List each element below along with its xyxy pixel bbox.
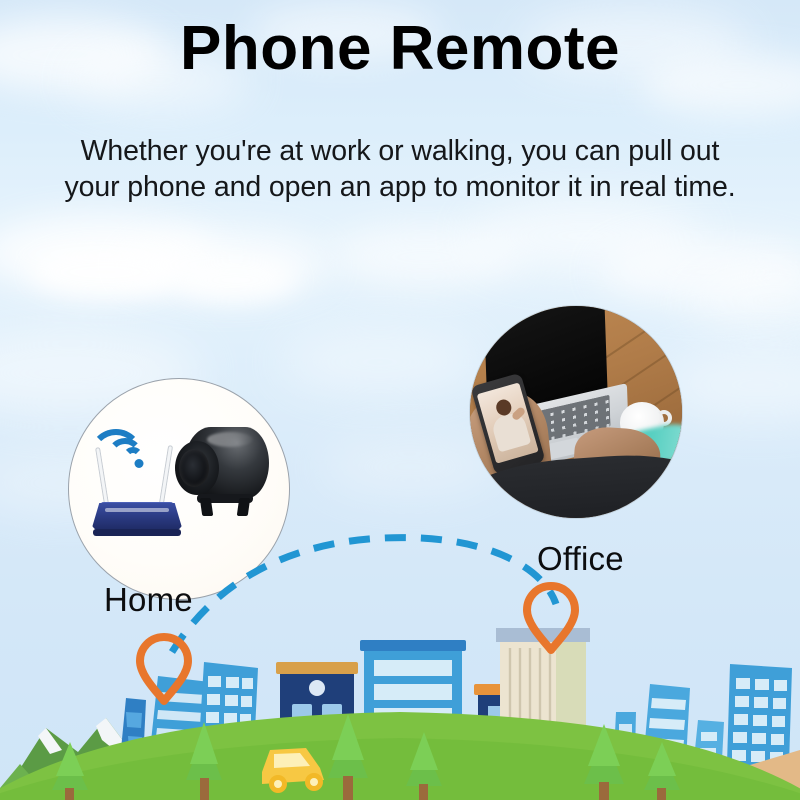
page-subtitle: Whether you're at work or walking, you c…	[60, 133, 740, 206]
cloud-shape	[176, 258, 296, 302]
page-title: Phone Remote	[0, 16, 800, 81]
office-photo	[470, 306, 682, 518]
wifi-dot	[134, 459, 143, 468]
camera-stand-leg-left	[200, 498, 214, 516]
map-pin-office[interactable]	[523, 582, 579, 654]
video-feed-person-body	[490, 411, 531, 453]
location-label-office: Office	[537, 540, 624, 578]
camera-lens	[179, 449, 209, 487]
pin-outline	[527, 586, 575, 650]
pin-outline	[140, 637, 188, 701]
camera-highlight	[207, 432, 253, 447]
cityscape-illustration	[0, 600, 800, 800]
security-camera	[173, 419, 273, 529]
wifi-signal-icon	[115, 429, 171, 473]
camera-stand	[197, 494, 253, 516]
office-phone-circle	[470, 306, 682, 518]
camera-stand-leg-right	[237, 498, 251, 516]
router-highlight	[105, 508, 169, 512]
video-feed-person-arm	[511, 406, 527, 421]
infographic-canvas: Phone Remote Whether you're at work or w…	[0, 0, 800, 800]
cloud-shape	[280, 330, 480, 394]
map-pin-home[interactable]	[136, 633, 192, 705]
